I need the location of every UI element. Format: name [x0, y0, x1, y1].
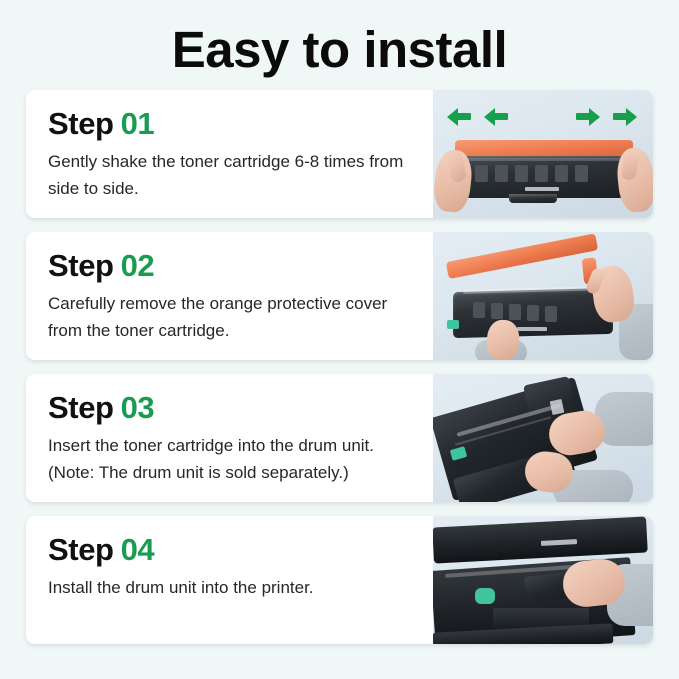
step-01-number: 01 — [121, 106, 155, 141]
step-card-02: Step02 Carefully remove the orange prote… — [26, 232, 653, 360]
cartridge-vent — [495, 165, 508, 182]
orange-protective-cover — [446, 233, 598, 279]
cartridge-label — [517, 327, 547, 331]
step-04-description: Install the drum unit into the printer. — [48, 574, 417, 601]
left-hand-support — [486, 319, 521, 360]
step-01-image — [433, 90, 653, 218]
printer-top-cover — [433, 516, 648, 563]
step-04-image — [433, 516, 653, 644]
cartridge-vent — [575, 165, 588, 182]
step-card-03-text: Step03 Insert the toner cartridge into t… — [26, 374, 433, 502]
step-02-number: 02 — [121, 248, 155, 283]
page-title: Easy to install — [0, 0, 679, 75]
insert-cartridge-into-drum-photo — [433, 374, 653, 502]
step-02-label: Step — [48, 248, 114, 283]
step-card-04-text: Step04 Install the drum unit into the pr… — [26, 516, 433, 644]
step-03-label: Step — [48, 390, 114, 425]
cartridge-vent — [515, 165, 528, 182]
cartridge-label — [525, 187, 559, 191]
step-04-label: Step — [48, 532, 114, 567]
cartridge-top-highlight — [461, 158, 627, 161]
step-01-label: Step — [48, 106, 114, 141]
step-01-heading: Step01 — [48, 108, 417, 141]
step-01-description: Gently shake the toner cartridge 6-8 tim… — [48, 148, 417, 202]
easy-to-install-infographic: Easy to install Step01 Gently shake the … — [0, 0, 679, 679]
steps-list: Step01 Gently shake the toner cartridge … — [26, 90, 653, 658]
step-02-description: Carefully remove the orange protective c… — [48, 290, 417, 344]
step-03-heading: Step03 — [48, 392, 417, 425]
step-03-description: Insert the toner cartridge into the drum… — [48, 432, 417, 486]
cartridge-vent — [545, 306, 557, 322]
step-02-image — [433, 232, 653, 360]
printer-green-tab — [475, 588, 495, 604]
step-04-heading: Step04 — [48, 534, 417, 567]
cartridge-vent — [491, 303, 503, 319]
cartridge-vent — [535, 165, 548, 182]
step-02-heading: Step02 — [48, 250, 417, 283]
step-04-number: 04 — [121, 532, 155, 567]
step-card-04: Step04 Install the drum unit into the pr… — [26, 516, 653, 644]
toner-cartridge-shake-photo — [433, 90, 653, 218]
step-card-01-text: Step01 Gently shake the toner cartridge … — [26, 90, 433, 218]
install-drum-into-printer-photo — [433, 516, 653, 644]
cartridge-green-tab — [447, 320, 459, 329]
cartridge-vent — [473, 302, 485, 318]
step-03-number: 03 — [121, 390, 155, 425]
cartridge-vent — [475, 165, 488, 182]
step-card-03: Step03 Insert the toner cartridge into t… — [26, 374, 653, 502]
remove-orange-cover-photo — [433, 232, 653, 360]
cartridge-vent — [527, 305, 539, 321]
drum-label — [550, 399, 565, 415]
cartridge-vent — [509, 304, 521, 320]
cartridge-handle — [509, 194, 557, 203]
step-card-02-text: Step02 Carefully remove the orange prote… — [26, 232, 433, 360]
cartridge-vent — [555, 165, 568, 182]
step-03-image — [433, 374, 653, 502]
step-card-01: Step01 Gently shake the toner cartridge … — [26, 90, 653, 218]
